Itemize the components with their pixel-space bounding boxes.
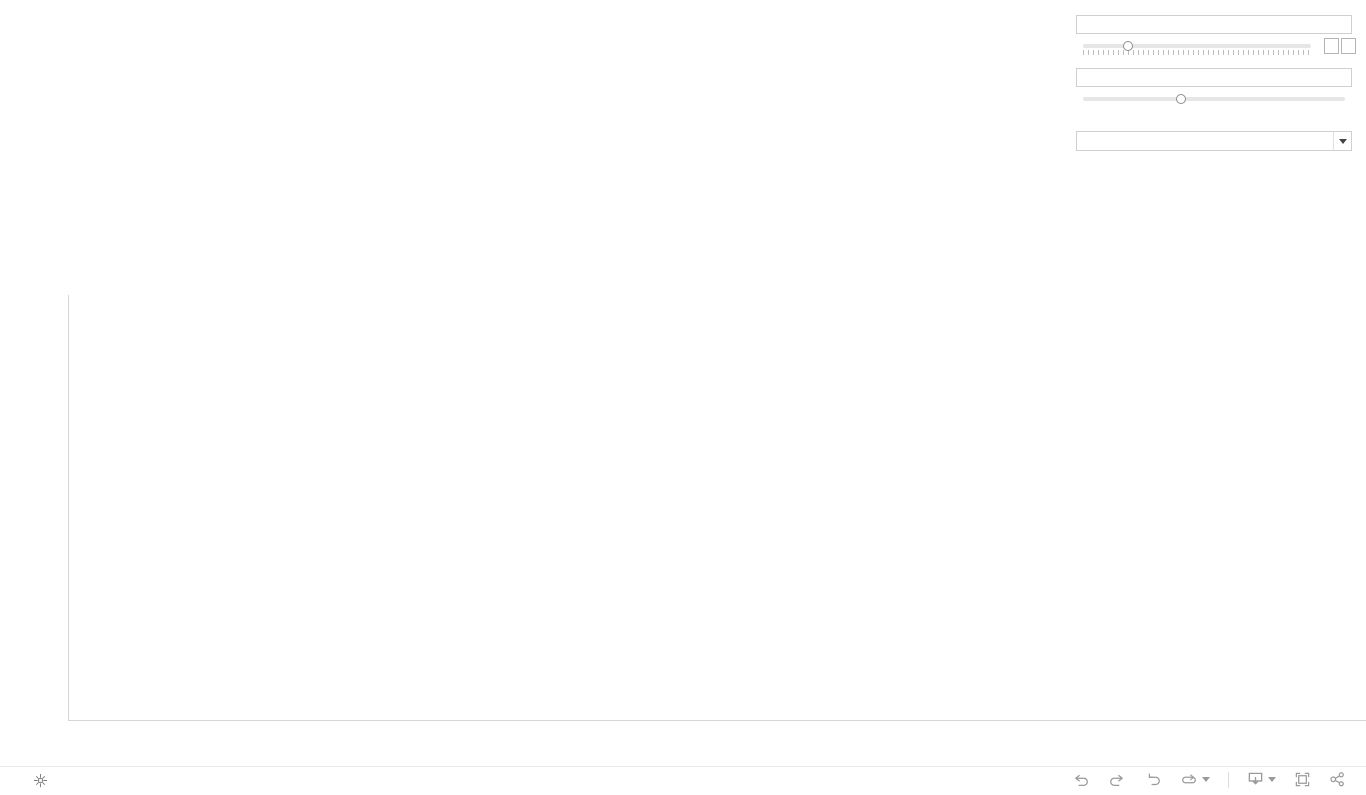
fullscreen-icon[interactable] [1294,771,1311,788]
birth-year-input[interactable] [1076,15,1352,34]
birth-year-prev-button[interactable] [1324,38,1339,54]
revert-icon[interactable] [1144,772,1162,788]
chevron-down-icon[interactable] [1333,132,1351,150]
birth-year-slider-ticks [1083,50,1311,55]
bottom-toolbar [0,766,1366,795]
tableau-icon [33,773,48,788]
redo-icon[interactable] [1108,772,1126,788]
undo-icon[interactable] [1072,772,1090,788]
kpi-pct-change [645,162,945,184]
refresh-icon[interactable] [1180,772,1210,788]
controls-panel [1076,12,1356,151]
rcp-scenario-select[interactable] [1076,131,1352,151]
birth-year-slider-knob[interactable] [1123,41,1133,51]
plot-svg [0,280,1366,720]
download-icon[interactable] [1247,771,1276,788]
toolbar-actions [1072,771,1350,788]
child-age-slider-knob[interactable] [1176,94,1186,104]
birth-year-step-buttons [1322,38,1356,54]
birth-year-slider-track[interactable] [1083,44,1311,48]
birth-year-slider[interactable] [1076,39,1356,57]
birth-year-next-button[interactable] [1341,38,1356,54]
view-on-tableau-public-link[interactable] [33,773,56,788]
child-age-slider-track[interactable] [1083,97,1345,101]
share-button[interactable] [1329,771,1350,788]
download-dropdown-caret[interactable] [1268,777,1276,782]
toolbar-divider [1228,772,1229,788]
child-age-input[interactable] [1076,68,1352,87]
x-axis-line [68,720,1366,721]
co2-line-chart [0,280,1366,760]
kpi-co2-at-birth [112,162,412,184]
refresh-dropdown-caret[interactable] [1202,777,1210,782]
child-age-slider[interactable] [1076,92,1356,110]
